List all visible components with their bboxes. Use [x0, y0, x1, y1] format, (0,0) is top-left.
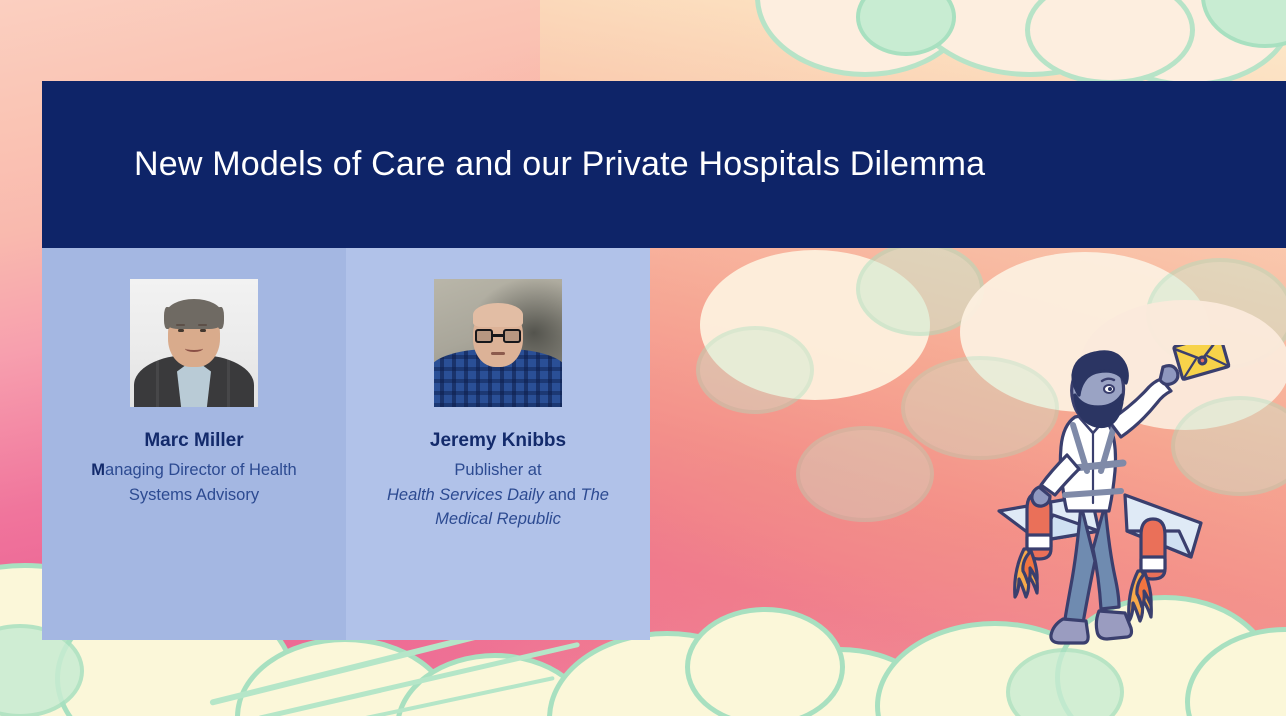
avatar-marc-miller: [130, 279, 258, 407]
speaker-panels: Marc Miller Managing Director of Health …: [42, 248, 650, 640]
glasses-icon: [475, 329, 521, 344]
avatar-jeremy-knibbs: [434, 279, 562, 407]
page-title: New Models of Care and our Private Hospi…: [134, 145, 985, 184]
speaker-role-lead: M: [91, 461, 105, 479]
speaker-publication-1: Health Services Daily: [387, 486, 544, 504]
speaker-role: Publisher at Health Services Daily and T…: [367, 458, 629, 532]
title-bar: New Models of Care and our Private Hospi…: [42, 81, 1286, 248]
speaker-role: Managing Director of Health Systems Advi…: [63, 458, 325, 508]
speaker-card-marc-miller: Marc Miller Managing Director of Health …: [42, 248, 346, 640]
jetpack-man-illustration: [995, 345, 1245, 665]
speaker-role-conjunction: and: [548, 486, 576, 504]
speaker-card-jeremy-knibbs: Jeremy Knibbs Publisher at Health Servic…: [346, 248, 650, 640]
title-slide: New Models of Care and our Private Hospi…: [0, 0, 1286, 716]
speaker-name: Marc Miller: [144, 429, 243, 453]
speaker-name: Jeremy Knibbs: [430, 429, 566, 453]
speaker-role-rest: anaging Director of Health Systems Advis…: [105, 461, 297, 504]
speaker-role-line1: Publisher at: [454, 461, 541, 479]
